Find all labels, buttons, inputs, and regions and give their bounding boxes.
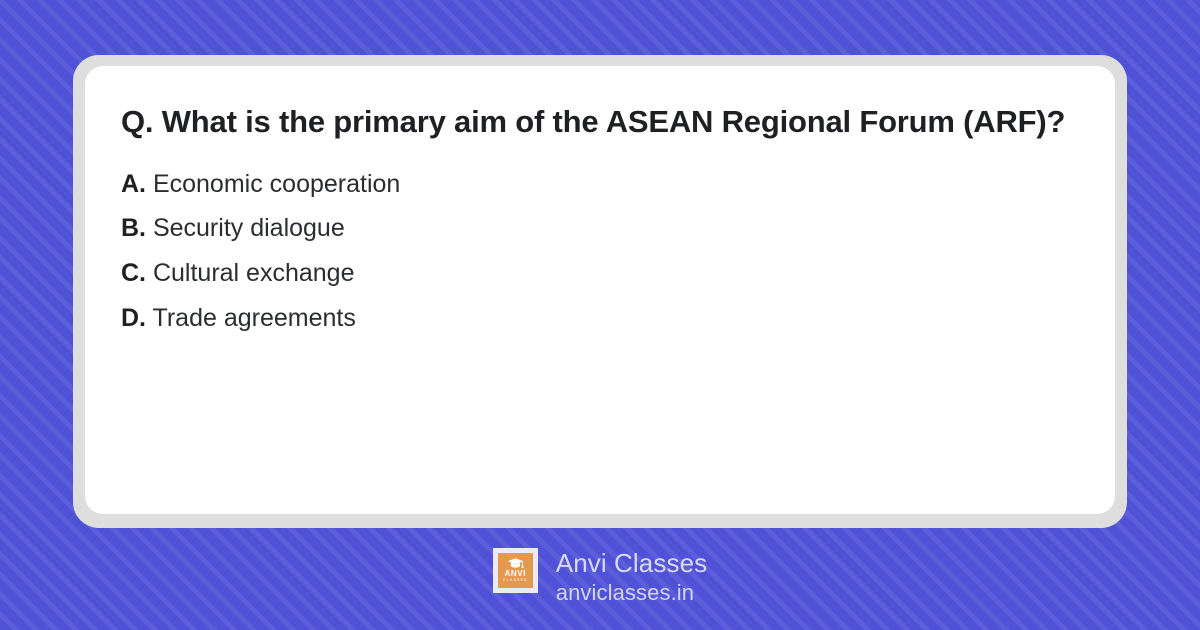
brand-name: Anvi Classes — [556, 549, 707, 579]
option-a-text: Economic cooperation — [153, 170, 400, 198]
quiz-card-image: Q. What is the primary aim of the ASEAN … — [0, 0, 1200, 630]
footer-branding: ANVI CLASSES Anvi Classes anviclasses.in — [0, 548, 1200, 607]
brand-logo-tile: ANVI CLASSES — [498, 553, 533, 588]
option-b-letter: B. — [121, 214, 146, 242]
brand-logo-line2: CLASSES — [503, 579, 528, 583]
brand-text-block: Anvi Classes anviclasses.in — [556, 548, 707, 607]
options-list: A. Economic cooperation B. Security dial… — [121, 162, 1079, 341]
option-d-letter: D. — [121, 304, 146, 332]
option-a-letter: A. — [121, 170, 146, 198]
option-c-text: Cultural exchange — [153, 259, 355, 287]
option-d: D. Trade agreements — [121, 296, 1079, 341]
brand-website: anviclasses.in — [556, 579, 707, 608]
option-b: B. Security dialogue — [121, 206, 1079, 251]
question-card: Q. What is the primary aim of the ASEAN … — [73, 55, 1127, 528]
option-b-text: Security dialogue — [153, 214, 345, 242]
brand-logo-line1: ANVI — [504, 570, 526, 578]
option-c: C. Cultural exchange — [121, 251, 1079, 296]
option-a: A. Economic cooperation — [121, 162, 1079, 207]
option-c-letter: C. — [121, 259, 146, 287]
graduation-cap-icon — [507, 558, 524, 569]
option-d-text: Trade agreements — [153, 304, 356, 332]
brand-logo: ANVI CLASSES — [493, 548, 538, 593]
question-card-inner: Q. What is the primary aim of the ASEAN … — [85, 66, 1115, 514]
question-text: Q. What is the primary aim of the ASEAN … — [121, 99, 1079, 145]
